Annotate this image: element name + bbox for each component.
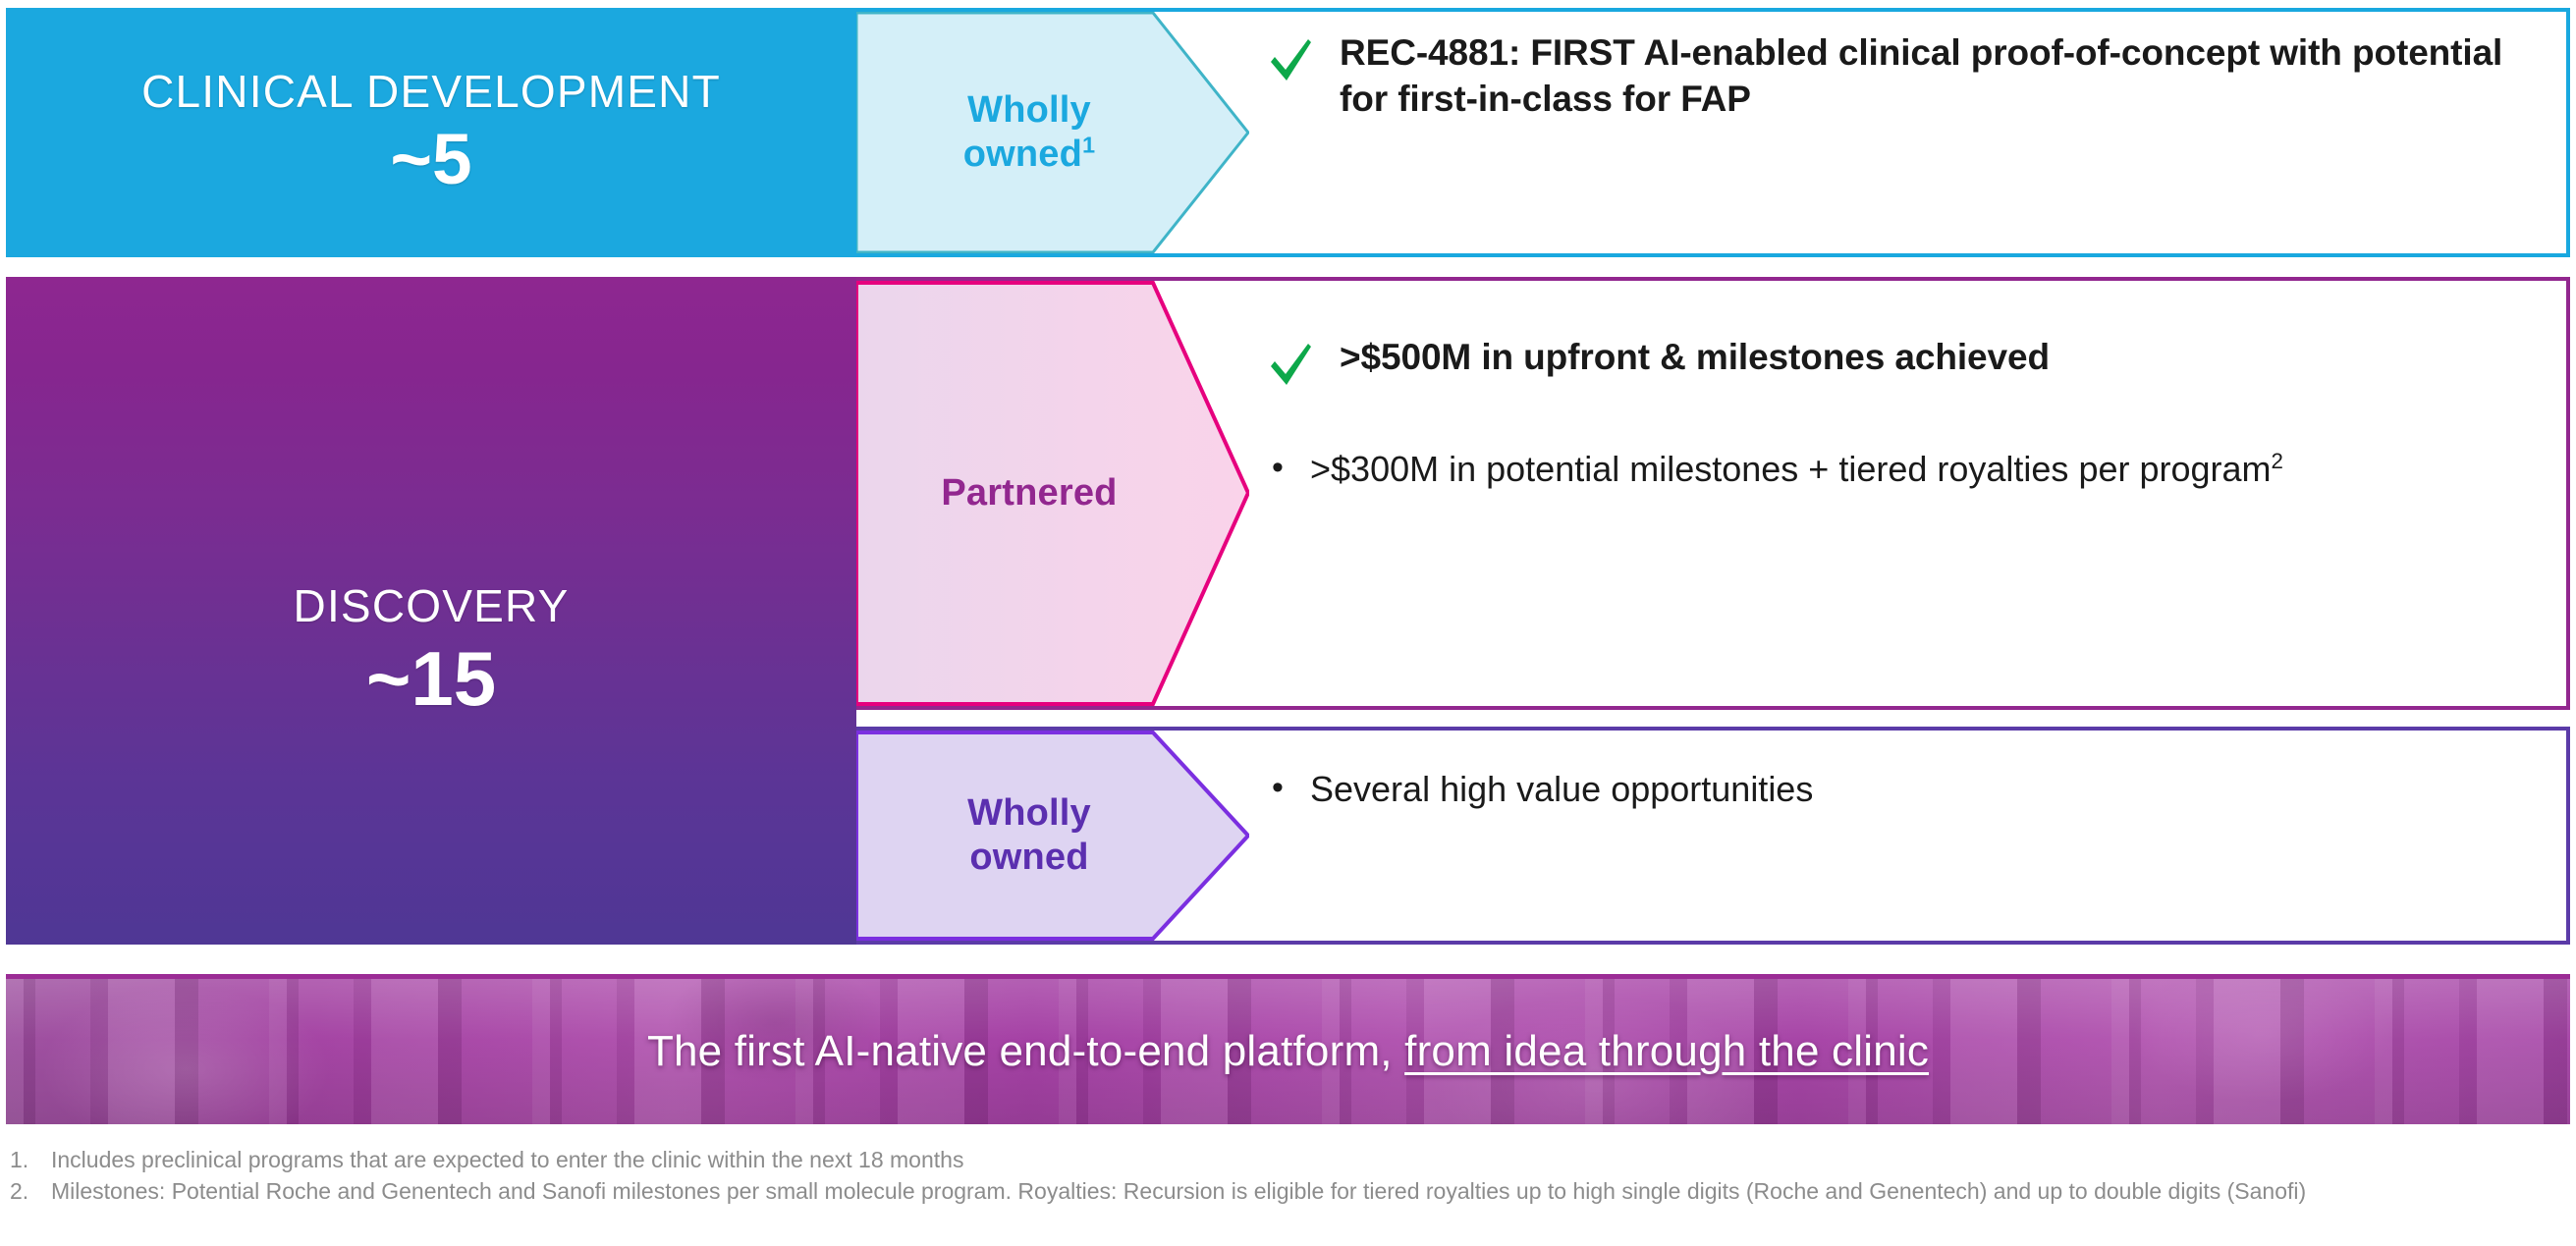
chevron-label-line1: Partnered xyxy=(941,472,1117,514)
stage-count-discovery: ~15 xyxy=(366,639,496,720)
stage-panel-clinical-development: CLINICAL DEVELOPMENT ~5 xyxy=(6,8,856,257)
stage-panel-discovery: DISCOVERY ~15 xyxy=(6,277,856,945)
bottom-banner: The first AI-native end-to-end platform,… xyxy=(6,974,2570,1124)
bullet-dot-icon: • xyxy=(1267,446,1288,490)
content-clinical-development: REC-4881: FIRST AI-enabled clinical proo… xyxy=(1267,29,2553,236)
check-text-clinical: REC-4881: FIRST AI-enabled clinical proo… xyxy=(1340,29,2553,123)
banner-tagline: The first AI-native end-to-end platform,… xyxy=(647,1027,1929,1076)
content-partnered: >$500M in upfront & milestones achieved … xyxy=(1267,334,2553,687)
footnotes: 1. Includes preclinical programs that ar… xyxy=(10,1145,2563,1207)
chevron-label-wholly-owned-discovery: Wholly owned xyxy=(967,791,1091,880)
bullet-text-wholly: Several high value opportunities xyxy=(1310,766,1813,813)
chevron-label-superscript: 1 xyxy=(1082,132,1095,157)
chevron-label-line2: owned xyxy=(963,134,1082,175)
chevron-label-partnered: Partnered xyxy=(941,471,1117,515)
content-wholly-owned: • Several high value opportunities xyxy=(1267,766,2553,913)
footnote-item: 1. Includes preclinical programs that ar… xyxy=(10,1145,2563,1176)
check-mark-icon xyxy=(1267,33,1314,84)
chevron-tag-wholly-owned-discovery: Wholly owned xyxy=(856,731,1249,941)
bullet-text-partnered: >$300M in potential milestones + tiered … xyxy=(1310,446,2283,493)
footnote-number: 2. xyxy=(10,1176,39,1208)
stage-count-clinical: ~5 xyxy=(390,123,471,198)
bullet-item-wholly: • Several high value opportunities xyxy=(1267,766,2553,813)
stage-title-discovery: DISCOVERY xyxy=(294,582,570,629)
banner-tagline-underlined: from idea through the clinic xyxy=(1404,1027,1929,1075)
footnote-item: 2. Milestones: Potential Roche and Genen… xyxy=(10,1176,2563,1208)
stage-title-clinical: CLINICAL DEVELOPMENT xyxy=(141,68,721,115)
chevron-label-line1: Wholly xyxy=(967,89,1091,131)
check-text-partnered: >$500M in upfront & milestones achieved xyxy=(1340,334,2050,380)
bullet-dot-icon: • xyxy=(1267,766,1288,810)
check-item-clinical: REC-4881: FIRST AI-enabled clinical proo… xyxy=(1267,29,2553,123)
chevron-label-wholly-owned-clinical: Wholly owned1 xyxy=(963,88,1096,177)
bullet-superscript: 2 xyxy=(2272,449,2283,473)
footnote-text: Includes preclinical programs that are e… xyxy=(51,1145,2563,1176)
slide-canvas: CLINICAL DEVELOPMENT ~5 DISCOVERY ~15 Wh… xyxy=(0,0,2576,1246)
bullet-item-partnered: • >$300M in potential milestones + tiere… xyxy=(1267,446,2553,493)
chevron-label-line2: owned xyxy=(969,837,1088,878)
footnote-text: Milestones: Potential Roche and Genentec… xyxy=(51,1176,2563,1208)
banner-tagline-plain: The first AI-native end-to-end platform, xyxy=(647,1027,1404,1075)
chevron-label-line1: Wholly xyxy=(967,792,1091,834)
stage-discovery-inner: DISCOVERY ~15 xyxy=(294,582,570,720)
check-mark-icon xyxy=(1267,338,1314,389)
chevron-tag-partnered: Partnered xyxy=(856,281,1249,706)
bullet-text-partnered-value: >$300M in potential milestones + tiered … xyxy=(1310,449,2272,489)
check-item-partnered: >$500M in upfront & milestones achieved xyxy=(1267,334,2553,385)
chevron-tag-wholly-owned-clinical: Wholly owned1 xyxy=(856,12,1249,253)
footnote-number: 1. xyxy=(10,1145,39,1176)
